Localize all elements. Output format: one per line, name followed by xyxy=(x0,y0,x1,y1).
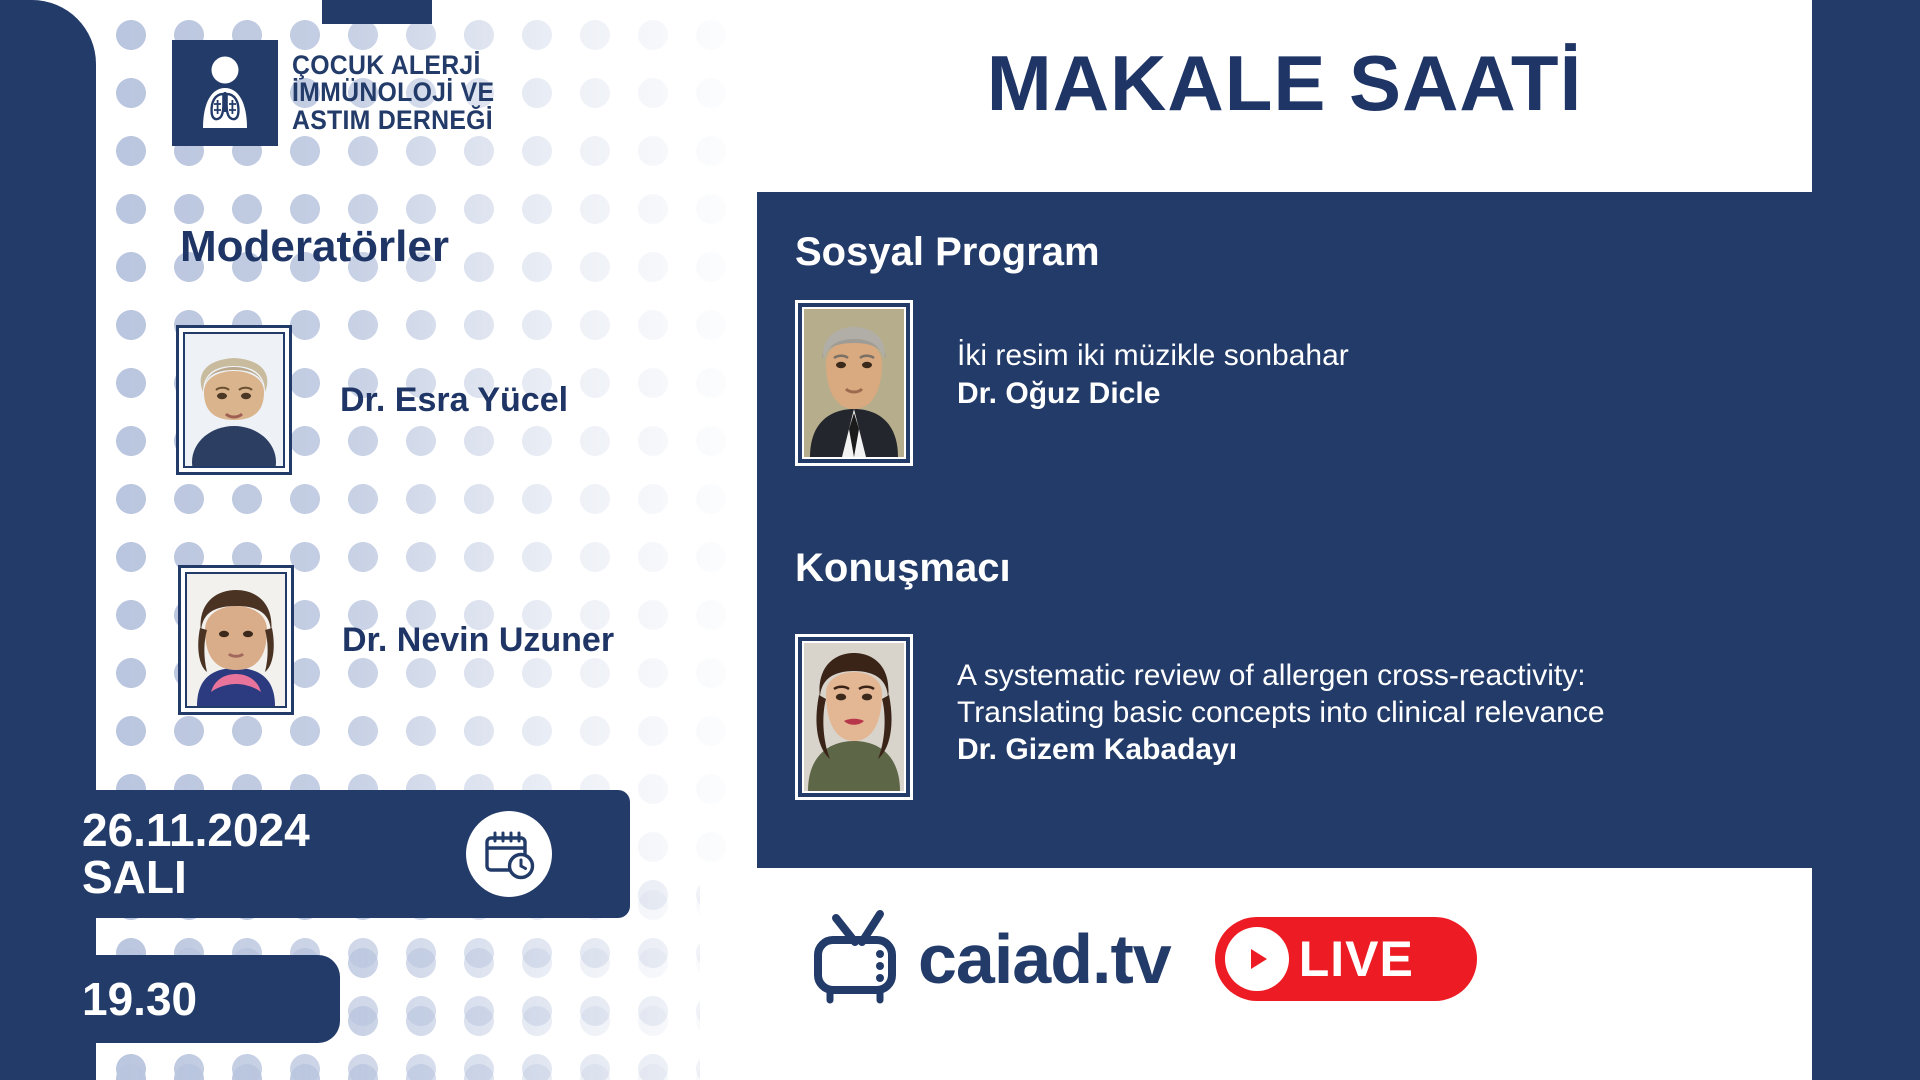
organization-logo: ÇOCUK ALERJİ İMMÜNOLOJİ VE ASTIM DERNEĞİ xyxy=(172,40,512,146)
portrait-nevin-uzuner xyxy=(185,572,287,708)
speaker-topic-line-2: Translating basic concepts into clinical… xyxy=(957,695,1605,732)
live-label: LIVE xyxy=(1299,930,1414,988)
television-icon xyxy=(810,908,914,1009)
moderator-item: Dr. Nevin Uzuner xyxy=(178,565,614,715)
org-line-3: ASTIM DERNEĞİ xyxy=(292,107,494,135)
live-badge[interactable]: LIVE xyxy=(1215,917,1477,1001)
event-date: 26.11.2024 SALI xyxy=(82,807,310,902)
avatar xyxy=(176,325,292,475)
event-date-value: 26.11.2024 xyxy=(82,807,310,854)
social-program-person: Dr. Oğuz Dicle xyxy=(957,377,1349,411)
moderator-name: Dr. Nevin Uzuner xyxy=(342,621,614,660)
avatar xyxy=(795,634,913,800)
top-accent-tab xyxy=(322,0,432,24)
brand-logo[interactable]: caiad.tv xyxy=(810,908,1171,1009)
social-program-text: İki resim iki müzikle sonbahar Dr. Oğuz … xyxy=(957,338,1349,411)
social-program-item: İki resim iki müzikle sonbahar Dr. Oğuz … xyxy=(795,300,1349,466)
play-icon xyxy=(1225,927,1289,991)
speaker-topic-line-1: A systematic review of allergen cross-re… xyxy=(957,658,1605,695)
speaker-text: A systematic review of allergen cross-re… xyxy=(957,658,1605,767)
person-lungs-icon xyxy=(172,40,278,146)
portrait-esra-yucel xyxy=(183,332,285,468)
event-day-value: SALI xyxy=(82,854,310,901)
speaker-person: Dr. Gizem Kabadayı xyxy=(957,733,1605,767)
moderator-item: Dr. Esra Yücel xyxy=(176,325,568,475)
program-panel: Sosyal Program xyxy=(757,192,1920,870)
speaker-heading: Konuşmacı xyxy=(795,546,1011,591)
social-program-heading: Sosyal Program xyxy=(795,230,1100,275)
calendar-clock-icon xyxy=(466,811,552,897)
page-title: MAKALE SAATİ xyxy=(757,38,1812,129)
left-accent-bar xyxy=(0,0,96,1080)
avatar xyxy=(178,565,294,715)
time-badge: 19.30 xyxy=(0,955,340,1043)
portrait-gizem-kabadayi xyxy=(802,641,906,793)
organization-name: ÇOCUK ALERJİ İMMÜNOLOJİ VE ASTIM DERNEĞİ xyxy=(292,52,494,135)
brand-name: caiad.tv xyxy=(918,919,1171,999)
footer: caiad.tv LIVE xyxy=(700,868,1812,1080)
poster-canvas: ÇOCUK ALERJİ İMMÜNOLOJİ VE ASTIM DERNEĞİ… xyxy=(0,0,1920,1080)
date-badge: 26.11.2024 SALI xyxy=(0,790,630,918)
footer-content: caiad.tv LIVE xyxy=(810,908,1477,1009)
speaker-item: A systematic review of allergen cross-re… xyxy=(795,634,1605,800)
org-line-1: ÇOCUK ALERJİ xyxy=(292,52,494,80)
moderators-heading: Moderatörler xyxy=(180,222,449,272)
event-time: 19.30 xyxy=(82,972,197,1026)
org-line-2: İMMÜNOLOJİ VE xyxy=(292,79,494,107)
social-program-topic: İki resim iki müzikle sonbahar xyxy=(957,338,1349,375)
portrait-oguz-dicle xyxy=(802,307,906,459)
moderator-name: Dr. Esra Yücel xyxy=(340,381,568,420)
avatar xyxy=(795,300,913,466)
